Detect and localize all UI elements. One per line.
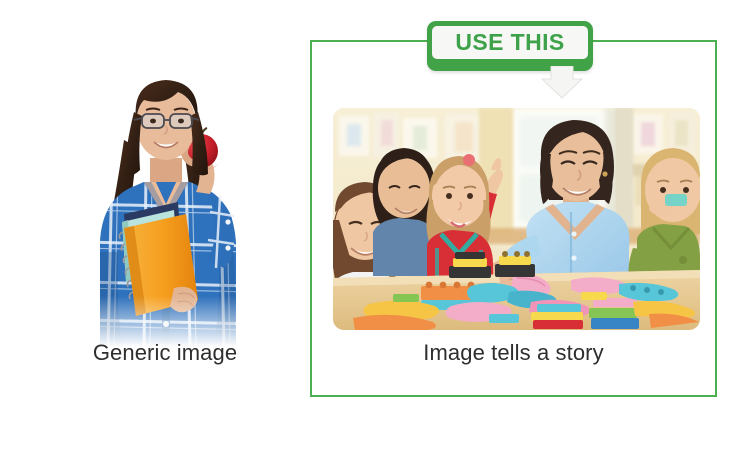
use-this-badge: USE THIS bbox=[427, 21, 593, 71]
woman-with-notebook-and-apple-photo bbox=[82, 62, 252, 347]
badge-label: USE THIS bbox=[455, 31, 564, 54]
story-image-caption: Image tells a story bbox=[310, 340, 717, 366]
badge-inner: USE THIS bbox=[432, 26, 588, 59]
comparison-graphic: Generic image bbox=[0, 0, 731, 456]
generic-image-panel: Generic image bbox=[30, 40, 300, 397]
classroom-teacher-with-children-photo bbox=[333, 108, 700, 330]
down-arrow-icon bbox=[541, 66, 583, 99]
generic-image-caption: Generic image bbox=[30, 340, 300, 366]
